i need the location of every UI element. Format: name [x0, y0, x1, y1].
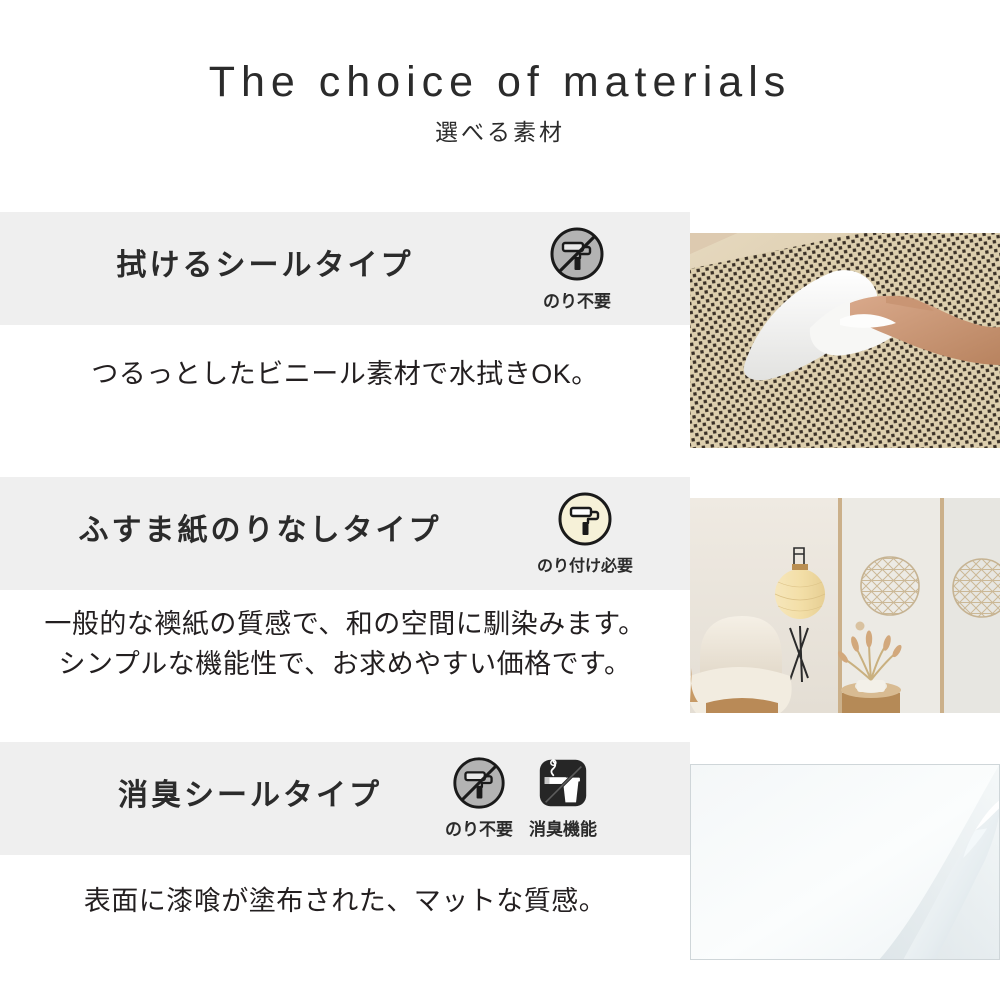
material-section-fusuma-paper-no-glue-type: ふすま紙のりなしタイプ のり付け必要 一般的な襖紙の質感で、和の空間に馴染みます…: [0, 477, 1000, 713]
no-glue-icon: [547, 224, 607, 284]
section-badge-group: のり付け必要: [525, 489, 645, 576]
page-subtitle: 選べる素材: [0, 113, 1000, 147]
section-description-line: シンプルな機能性で、お求めやすい価格です。: [0, 645, 690, 685]
badge-no-glue: のり不要: [443, 754, 515, 840]
badge-label: のり不要: [445, 815, 513, 840]
section-description-line: 表面に漆喰が塗布された、マットな質感。: [0, 882, 690, 922]
glue-needed-icon: [555, 489, 615, 549]
japanese-interior-fusuma-photo: [690, 498, 1000, 713]
badge-label: のり不要: [543, 287, 611, 312]
badge-no-glue: のり不要: [541, 224, 613, 312]
section-description-line: 一般的な襖紙の質感で、和の空間に馴染みます。: [0, 605, 690, 645]
section-badge-group: のり不要 消臭機能: [443, 754, 599, 840]
white-matte-sheet-photo: [690, 764, 1000, 960]
no-glue-icon: [450, 754, 508, 812]
section-badge-group: のり不要: [541, 224, 613, 312]
page-header: The choice of materials 選べる素材: [0, 0, 1000, 200]
badge-deodorize: 消臭機能: [527, 754, 599, 840]
section-title: 消臭シールタイプ: [0, 770, 500, 814]
badge-label: のり付け必要: [537, 552, 633, 576]
section-title: ふすま紙のりなしタイプ: [0, 505, 520, 549]
section-description-line: つるっとしたビニール素材で水拭きOK。: [0, 355, 690, 395]
wiping-rattan-surface-photo: [690, 233, 1000, 448]
section-title: 拭けるシールタイプ: [0, 240, 530, 284]
page-title: The choice of materials: [0, 58, 1000, 107]
badge-glue-needed: のり付け必要: [525, 489, 645, 576]
deodorize-icon: [534, 754, 592, 812]
material-section-deodorizing-seal-type: 消臭シールタイプ のり不要: [0, 742, 1000, 982]
badge-label: 消臭機能: [529, 815, 597, 840]
material-section-wipeable-seal-type: 拭けるシールタイプ のり不要 つるっとしたビニール素材で水拭きOK。: [0, 212, 1000, 448]
